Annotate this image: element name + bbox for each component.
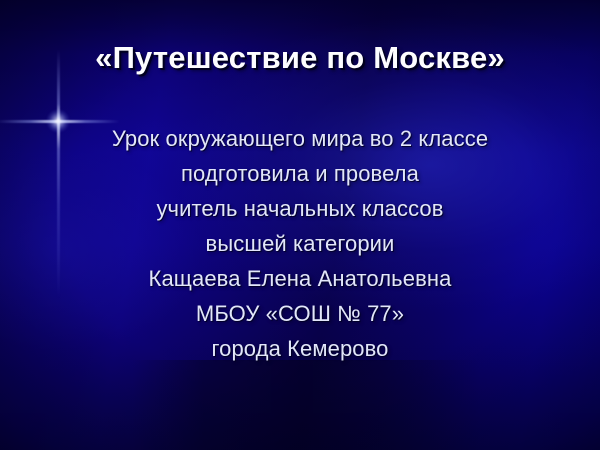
slide-background-dark-band bbox=[0, 360, 600, 450]
slide-title: «Путешествие по Москве» bbox=[0, 40, 600, 76]
body-line-4: высшей категории bbox=[0, 226, 600, 261]
slide-body-text: Урок окружающего мира во 2 классе подгот… bbox=[0, 121, 600, 366]
body-line-6: МБОУ «СОШ № 77» bbox=[0, 296, 600, 331]
body-line-7: города Кемерово bbox=[0, 331, 600, 366]
body-line-5: Кащаева Елена Анатольевна bbox=[0, 261, 600, 296]
body-line-2: подготовила и провела bbox=[0, 156, 600, 191]
body-line-1: Урок окружающего мира во 2 классе bbox=[0, 121, 600, 156]
presentation-slide: «Путешествие по Москве» Урок окружающего… bbox=[0, 0, 600, 450]
body-line-3: учитель начальных классов bbox=[0, 191, 600, 226]
